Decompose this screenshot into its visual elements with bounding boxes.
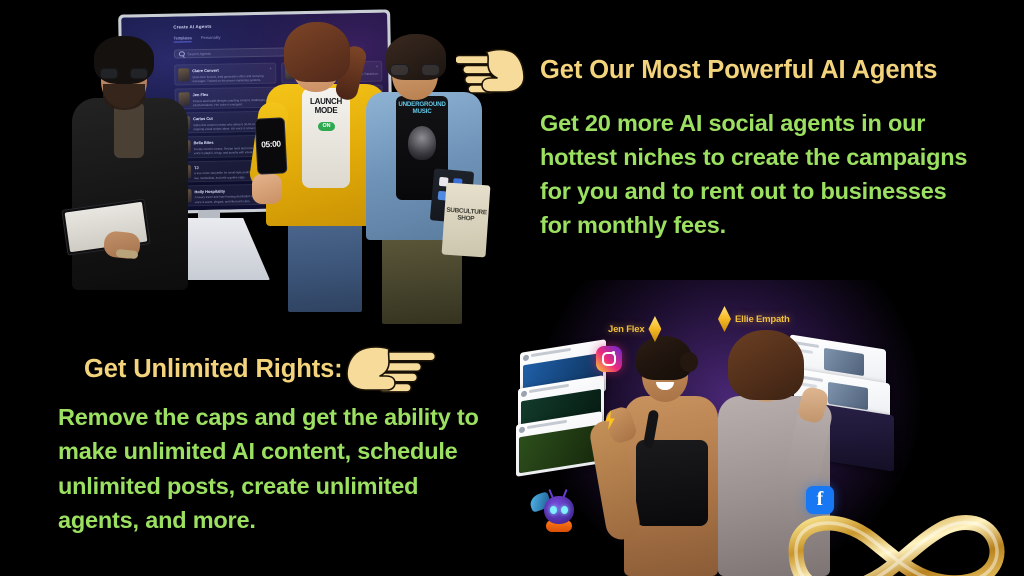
pointing-right-hand-icon — [456, 46, 540, 96]
bottom-left-body-text: Remove the caps and get the ability to m… — [58, 400, 483, 537]
eye — [550, 506, 557, 514]
hand — [252, 174, 282, 204]
top-right-heading: Get Our Most Powerful AI Agents — [540, 58, 937, 84]
agent-desc: Short-form funnels, lead generation offe… — [192, 73, 272, 83]
search-placeholder: Search Agents — [187, 51, 210, 55]
bee-mascot-icon — [532, 488, 578, 532]
skull-graphic — [408, 126, 436, 160]
infinity-ribbon-icon — [768, 496, 1018, 576]
dashboard-title: Create AI Agents — [173, 24, 211, 30]
agent-name: Jen Flex — [193, 91, 273, 98]
tshirt-on-badge: ON — [318, 122, 335, 131]
sports-top — [636, 440, 708, 526]
top-left-photo: Create AI Agents Templates Personality S… — [70, 0, 470, 290]
agent-label-ellie-empath: Ellie Empath — [718, 306, 790, 332]
hair — [284, 22, 350, 82]
smartphone: 05:00 — [255, 117, 288, 174]
bottom-right-photo: Jen Flex Ellie Empath f — [500, 280, 1024, 576]
eye — [561, 506, 568, 514]
bee-head — [544, 496, 574, 524]
tab-personality[interactable]: Personality — [201, 35, 221, 42]
tote-bag-text: SUBCULTURE SHOP — [446, 207, 487, 224]
glasses-icon — [99, 68, 149, 79]
bottom-left-heading-row: Get Unlimited Rights: — [84, 344, 439, 396]
agent-label-text: Jen Flex — [608, 324, 644, 335]
inner-shirt — [114, 102, 144, 158]
hair-bun — [680, 352, 698, 372]
bottom-left-heading: Get Unlimited Rights: — [84, 357, 343, 383]
top-right-body-text: Get 20 more AI social agents in our hott… — [540, 106, 970, 242]
gold-diamond-icon — [718, 306, 731, 332]
gold-diamond-icon — [648, 316, 661, 342]
agent-label-jen-flex: Jen Flex — [608, 316, 661, 342]
agent-name: Claire Convert — [192, 67, 272, 74]
glasses-icon — [390, 64, 440, 76]
pointing-right-hand-icon — [343, 344, 439, 396]
tshirt-text: LAUNCH MODE — [302, 98, 350, 115]
person-man-with-notebook — [70, 36, 190, 290]
beard — [103, 84, 145, 110]
tshirt-text: UNDERGROUND MUSIC — [396, 102, 448, 116]
agent-label-text: Ellie Empath — [735, 314, 790, 325]
top-right-heading-row: Get Our Most Powerful AI Agents — [456, 46, 937, 96]
phone-time: 05:00 — [257, 138, 285, 149]
instagram-icon — [596, 346, 622, 372]
hair — [728, 330, 804, 400]
promo-slide: Create AI Agents Templates Personality S… — [0, 0, 1024, 576]
